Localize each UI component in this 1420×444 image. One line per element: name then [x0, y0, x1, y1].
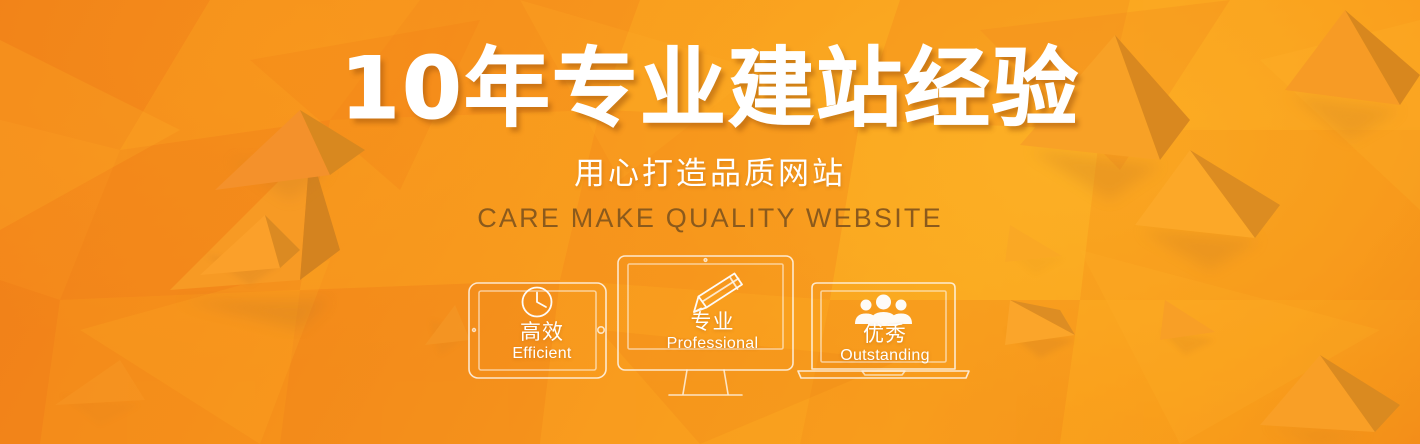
banner-subtitle-english: CARE MAKE QUALITY WEBSITE [0, 202, 1420, 234]
banner-headline: 10年专业建站经验 [0, 46, 1420, 132]
clock-icon [523, 288, 552, 317]
device-illustration-group [455, 250, 975, 410]
pencil-icon [694, 274, 742, 313]
desktop-monitor-device [618, 256, 793, 395]
people-group-icon [855, 295, 912, 327]
banner-subtitle-chinese: 用心打造品质网站 [0, 156, 1420, 193]
promo-banner: 10年专业建站经验 用心打造品质网站 CARE MAKE QUALITY WEB… [0, 0, 1420, 444]
